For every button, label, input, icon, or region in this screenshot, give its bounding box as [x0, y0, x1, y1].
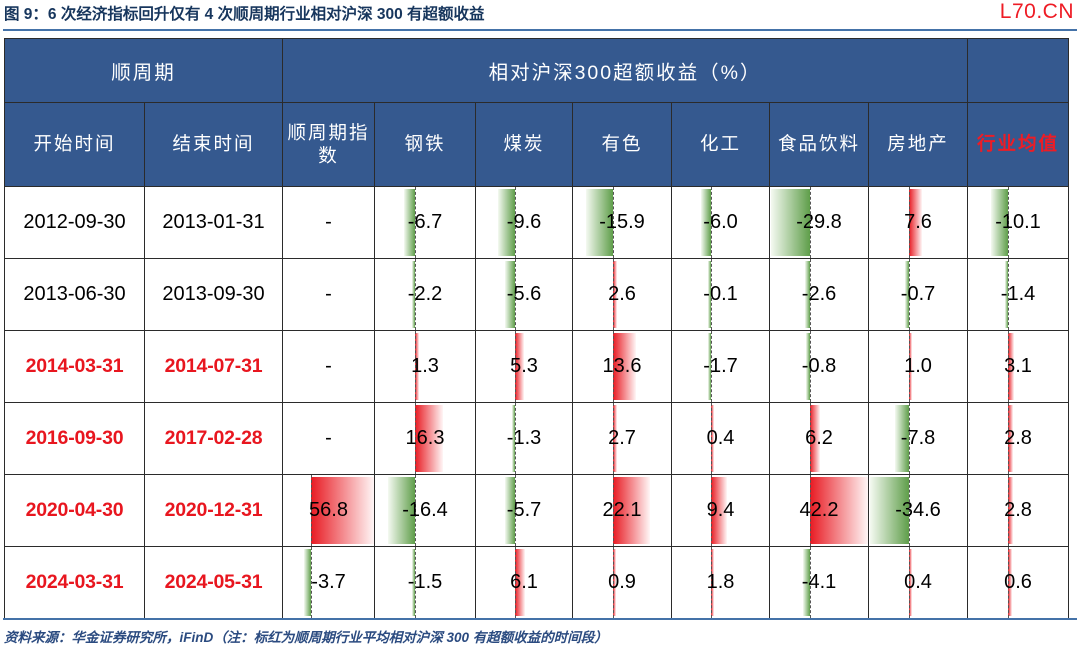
value-chemicals: 1.8 [672, 571, 769, 594]
cell-nonferrous: 2.6 [573, 259, 672, 331]
title-divider [3, 29, 1077, 31]
cell-steel: -2.2 [375, 259, 476, 331]
column-header-industry-average: 行业均值 [968, 103, 1069, 187]
value-chemicals: 0.4 [672, 427, 769, 450]
cell-procyclical-index: - [283, 259, 375, 331]
cell-nonferrous: 13.6 [573, 331, 672, 403]
footer-divider [3, 618, 1077, 620]
start-date-text: 2012-09-30 [5, 211, 144, 234]
value-industry-average: 2.8 [968, 499, 1068, 522]
end-date-text: 2014-07-31 [145, 355, 282, 378]
value-procyclical-index: - [283, 427, 374, 450]
value-food-beverage: 42.2 [770, 499, 868, 522]
value-food-beverage: -4.1 [770, 571, 868, 594]
column-header-chemicals: 化工 [672, 103, 770, 187]
cell-start-date: 2014-03-31 [5, 331, 145, 403]
value-food-beverage: -0.8 [770, 355, 868, 378]
value-industry-average: -10.1 [968, 211, 1068, 234]
value-steel: 1.3 [375, 355, 475, 378]
cell-procyclical-index: - [283, 403, 375, 475]
table-row: 2014-03-312014-07-31-1.35.313.6-1.7-0.81… [5, 331, 1069, 403]
cell-nonferrous: -15.9 [573, 187, 672, 259]
cell-coal: -1.3 [476, 403, 573, 475]
value-food-beverage: -2.6 [770, 283, 868, 306]
cell-end-date: 2013-09-30 [145, 259, 283, 331]
cell-coal: -5.7 [476, 475, 573, 547]
column-header-real-estate: 房地产 [869, 103, 968, 187]
column-header-end-date: 结束时间 [145, 103, 283, 187]
column-header-steel: 钢铁 [375, 103, 476, 187]
cell-food-beverage: -4.1 [770, 547, 869, 619]
value-procyclical-index: - [283, 283, 374, 306]
cell-procyclical-index: -3.7 [283, 547, 375, 619]
cell-start-date: 2012-09-30 [5, 187, 145, 259]
value-real-estate: -0.7 [869, 283, 967, 306]
cell-real-estate: 0.4 [869, 547, 968, 619]
cell-industry-average: -10.1 [968, 187, 1069, 259]
header-group-row: 顺周期 相对沪深300超额收益（%） [5, 39, 1069, 103]
value-coal: -5.6 [476, 283, 572, 306]
cell-food-beverage: -2.6 [770, 259, 869, 331]
cell-procyclical-index: - [283, 331, 375, 403]
value-coal: 5.3 [476, 355, 572, 378]
cell-procyclical-index: 56.8 [283, 475, 375, 547]
cell-steel: 16.3 [375, 403, 476, 475]
value-steel: -16.4 [375, 499, 475, 522]
cell-chemicals: -6.0 [672, 187, 770, 259]
cell-food-beverage: 6.2 [770, 403, 869, 475]
cell-industry-average: 2.8 [968, 403, 1069, 475]
value-nonferrous: 2.6 [573, 283, 671, 306]
cell-industry-average: -1.4 [968, 259, 1069, 331]
cell-food-beverage: -0.8 [770, 331, 869, 403]
value-industry-average: 2.8 [968, 427, 1068, 450]
cell-end-date: 2017-02-28 [145, 403, 283, 475]
cell-end-date: 2013-01-31 [145, 187, 283, 259]
cell-real-estate: -34.6 [869, 475, 968, 547]
end-date-text: 2020-12-31 [145, 499, 282, 522]
value-steel: -2.2 [375, 283, 475, 306]
value-procyclical-index: - [283, 211, 374, 234]
start-date-text: 2013-06-30 [5, 283, 144, 306]
header-column-row: 开始时间 结束时间 顺周期指数 钢铁 煤炭 有色 化工 食品饮料 房地产 行业均… [5, 103, 1069, 187]
table-row: 2013-06-302013-09-30--2.2-5.62.6-0.1-2.6… [5, 259, 1069, 331]
cell-coal: 6.1 [476, 547, 573, 619]
cell-end-date: 2014-07-31 [145, 331, 283, 403]
cell-industry-average: 2.8 [968, 475, 1069, 547]
column-header-start-date: 开始时间 [5, 103, 145, 187]
start-date-text: 2014-03-31 [5, 355, 144, 378]
cell-end-date: 2024-05-31 [145, 547, 283, 619]
value-coal: -1.3 [476, 427, 572, 450]
value-nonferrous: 2.7 [573, 427, 671, 450]
value-nonferrous: 13.6 [573, 355, 671, 378]
cell-coal: -5.6 [476, 259, 573, 331]
header-group-spacer [968, 39, 1069, 103]
header-group-procyclical: 顺周期 [5, 39, 283, 103]
value-industry-average: 3.1 [968, 355, 1068, 378]
header-group-excess-return: 相对沪深300超额收益（%） [283, 39, 968, 103]
cell-industry-average: 0.6 [968, 547, 1069, 619]
cell-real-estate: -0.7 [869, 259, 968, 331]
cell-start-date: 2020-04-30 [5, 475, 145, 547]
page-title: 图 9：6 次经济指标回升仅有 4 次顺周期行业相对沪深 300 有超额收益 [4, 2, 485, 24]
start-date-text: 2016-09-30 [5, 427, 144, 450]
value-steel: 16.3 [375, 427, 475, 450]
cell-chemicals: 0.4 [672, 403, 770, 475]
value-industry-average: -1.4 [968, 283, 1068, 306]
watermark-logo: L70.CN [1000, 0, 1074, 24]
cell-nonferrous: 0.9 [573, 547, 672, 619]
column-header-procyclical-index: 顺周期指数 [283, 103, 375, 187]
value-industry-average: 0.6 [968, 571, 1068, 594]
cell-chemicals: -1.7 [672, 331, 770, 403]
value-real-estate: 7.6 [869, 211, 967, 234]
column-header-nonferrous: 有色 [573, 103, 672, 187]
table-row: 2024-03-312024-05-31-3.7-1.56.10.91.8-4.… [5, 547, 1069, 619]
value-steel: -6.7 [375, 211, 475, 234]
cell-coal: 5.3 [476, 331, 573, 403]
value-real-estate: -7.8 [869, 427, 967, 450]
value-real-estate: 0.4 [869, 571, 967, 594]
value-steel: -1.5 [375, 571, 475, 594]
value-procyclical-index: 56.8 [283, 499, 374, 522]
table-body: 2012-09-302013-01-31--6.7-9.6-15.9-6.0-2… [5, 187, 1069, 619]
cell-steel: -1.5 [375, 547, 476, 619]
value-real-estate: 1.0 [869, 355, 967, 378]
column-header-food-beverage: 食品饮料 [770, 103, 869, 187]
excess-return-table: 顺周期 相对沪深300超额收益（%） 开始时间 结束时间 顺周期指数 钢铁 煤炭… [4, 38, 1069, 619]
value-chemicals: -1.7 [672, 355, 769, 378]
cell-nonferrous: 2.7 [573, 403, 672, 475]
end-date-text: 2013-09-30 [145, 283, 282, 306]
data-table-container: 顺周期 相对沪深300超额收益（%） 开始时间 结束时间 顺周期指数 钢铁 煤炭… [4, 38, 1068, 614]
value-food-beverage: 6.2 [770, 427, 868, 450]
cell-food-beverage: 42.2 [770, 475, 869, 547]
cell-steel: -6.7 [375, 187, 476, 259]
table-row: 2016-09-302017-02-28-16.3-1.32.70.46.2-7… [5, 403, 1069, 475]
cell-start-date: 2024-03-31 [5, 547, 145, 619]
value-coal: -9.6 [476, 211, 572, 234]
title-bar: 图 9：6 次经济指标回升仅有 4 次顺周期行业相对沪深 300 有超额收益 L… [0, 0, 1080, 31]
cell-steel: -16.4 [375, 475, 476, 547]
cell-real-estate: 7.6 [869, 187, 968, 259]
cell-nonferrous: 22.1 [573, 475, 672, 547]
start-date-text: 2024-03-31 [5, 571, 144, 594]
value-real-estate: -34.6 [869, 499, 967, 522]
value-coal: 6.1 [476, 571, 572, 594]
table-row: 2012-09-302013-01-31--6.7-9.6-15.9-6.0-2… [5, 187, 1069, 259]
end-date-text: 2024-05-31 [145, 571, 282, 594]
value-nonferrous: 0.9 [573, 571, 671, 594]
value-nonferrous: 22.1 [573, 499, 671, 522]
cell-industry-average: 3.1 [968, 331, 1069, 403]
start-date-text: 2020-04-30 [5, 499, 144, 522]
cell-end-date: 2020-12-31 [145, 475, 283, 547]
end-date-text: 2013-01-31 [145, 211, 282, 234]
table-row: 2020-04-302020-12-3156.8-16.4-5.722.19.4… [5, 475, 1069, 547]
cell-start-date: 2016-09-30 [5, 403, 145, 475]
cell-real-estate: 1.0 [869, 331, 968, 403]
value-coal: -5.7 [476, 499, 572, 522]
value-chemicals: -0.1 [672, 283, 769, 306]
value-food-beverage: -29.8 [770, 211, 868, 234]
cell-chemicals: 1.8 [672, 547, 770, 619]
value-chemicals: 9.4 [672, 499, 769, 522]
value-nonferrous: -15.9 [573, 211, 671, 234]
cell-food-beverage: -29.8 [770, 187, 869, 259]
end-date-text: 2017-02-28 [145, 427, 282, 450]
column-header-coal: 煤炭 [476, 103, 573, 187]
cell-chemicals: -0.1 [672, 259, 770, 331]
cell-coal: -9.6 [476, 187, 573, 259]
cell-start-date: 2013-06-30 [5, 259, 145, 331]
cell-real-estate: -7.8 [869, 403, 968, 475]
cell-chemicals: 9.4 [672, 475, 770, 547]
value-procyclical-index: - [283, 355, 374, 378]
value-chemicals: -6.0 [672, 211, 769, 234]
cell-procyclical-index: - [283, 187, 375, 259]
cell-steel: 1.3 [375, 331, 476, 403]
source-note: 资料来源：华金证券研究所，iFinD（注：标红为顺周期行业平均相对沪深 300 … [4, 626, 608, 646]
value-procyclical-index: -3.7 [283, 571, 374, 594]
table-header: 顺周期 相对沪深300超额收益（%） 开始时间 结束时间 顺周期指数 钢铁 煤炭… [5, 39, 1069, 187]
